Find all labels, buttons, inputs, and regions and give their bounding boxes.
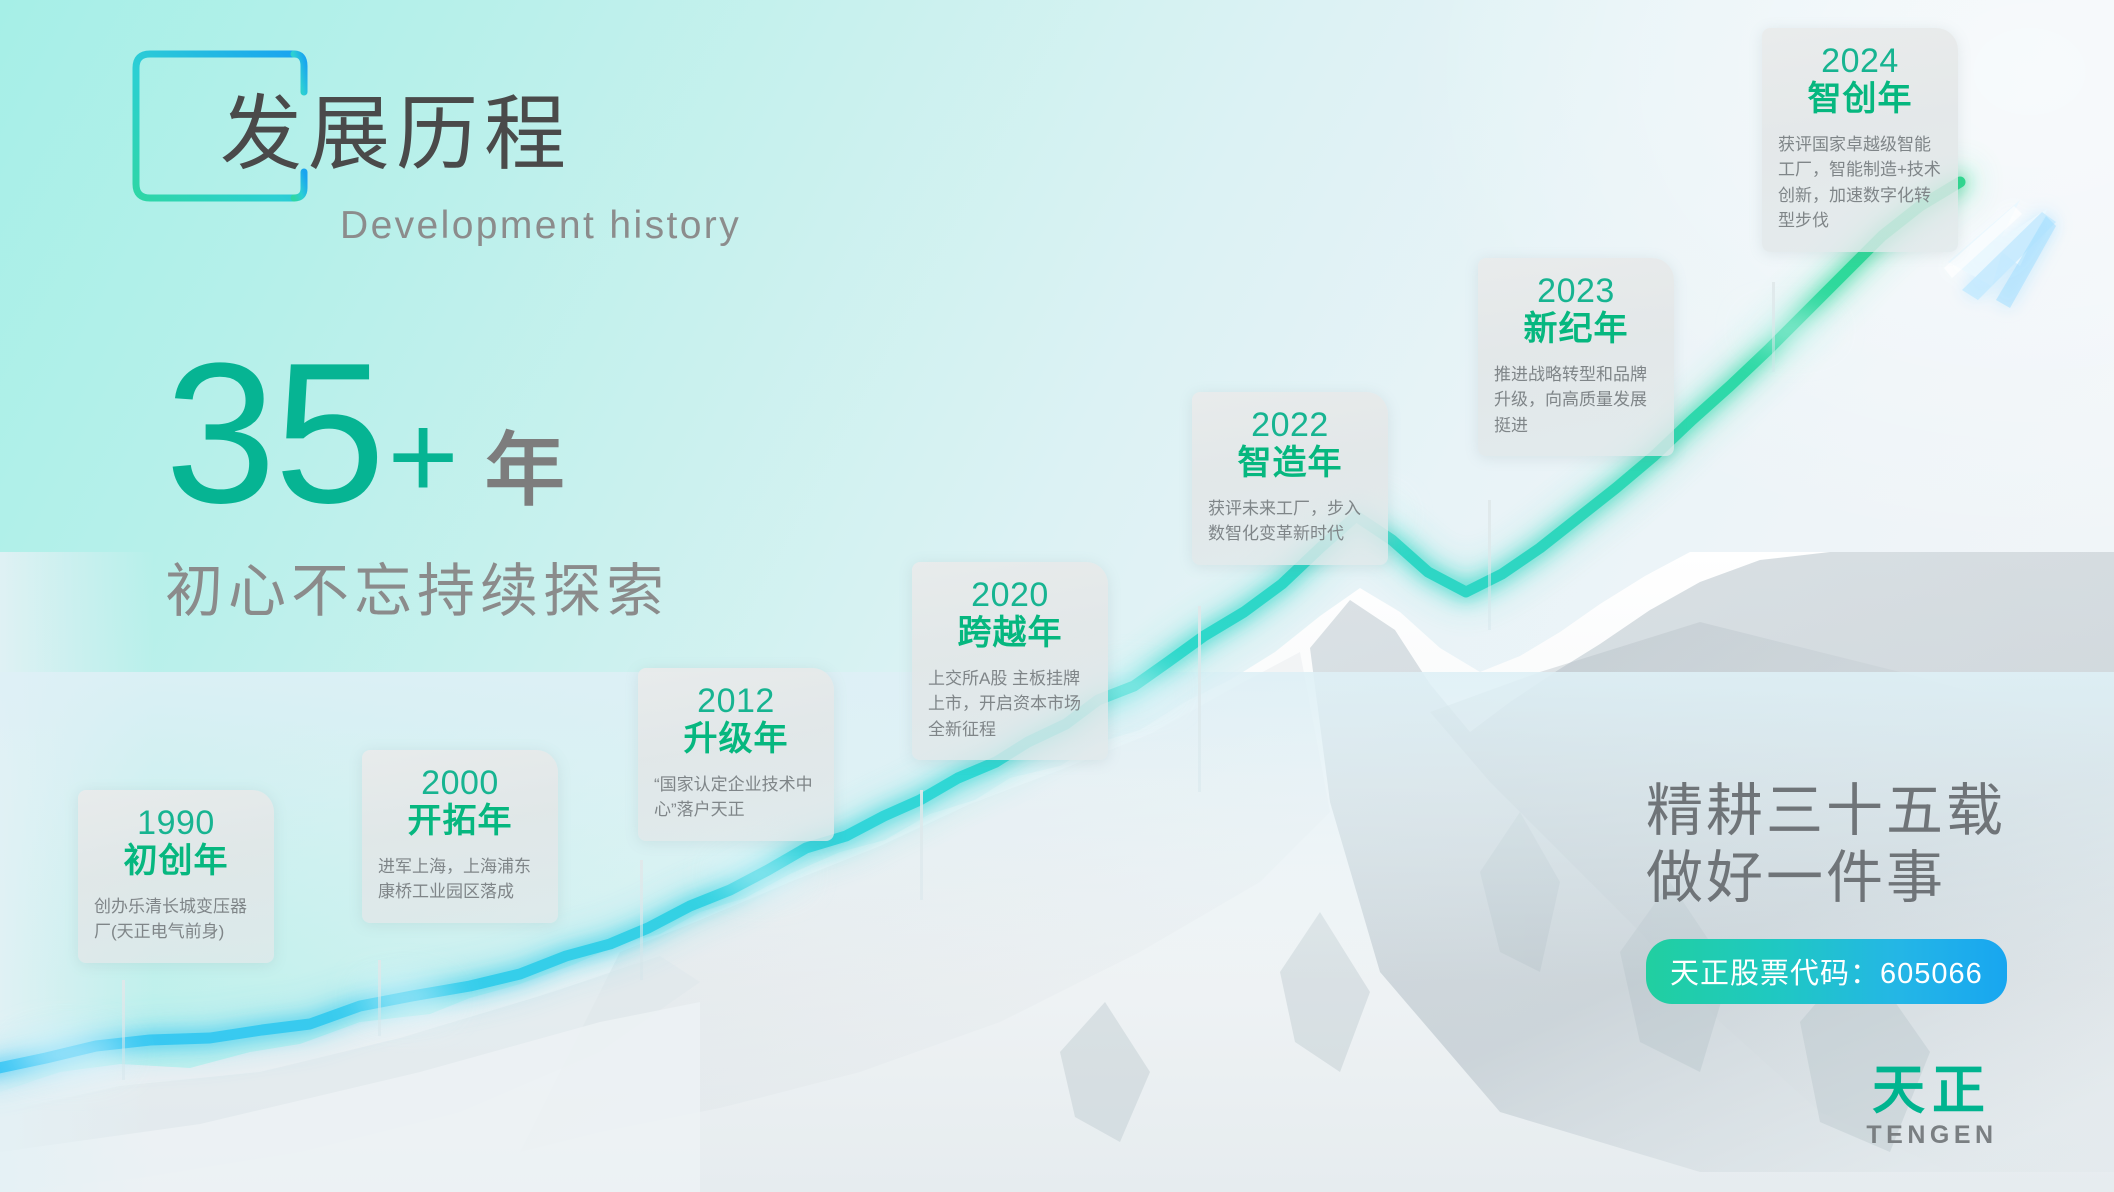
milestone-card-2000[interactable]: 2000 开拓年 进军上海，上海浦东康桥工业园区落成 [362, 750, 558, 923]
milestone-desc: 上交所A股 主板挂牌上市，开启资本市场全新征程 [924, 666, 1096, 743]
company-logo: 天正 TENGEN [1842, 1064, 2022, 1148]
milestone-desc: 获评国家卓越级智能工厂，智能制造+技术创新，加速数字化转型步伐 [1774, 132, 1946, 234]
slogan-line-1: 精耕三十五载 [1646, 778, 2026, 845]
milestone-desc: 获评未来工厂，步入数智化变革新时代 [1204, 496, 1376, 547]
milestone-desc: 推进战略转型和品牌升级，向高质量发展挺进 [1490, 362, 1662, 439]
milestone-stem-2022 [1198, 606, 1201, 792]
milestone-year: 2022 [1204, 406, 1376, 445]
milestone-stem-2024 [1772, 282, 1775, 372]
logo-chinese-name: 天正 [1842, 1064, 2022, 1117]
years-caption: 初心不忘持续探索 [165, 544, 725, 628]
milestone-tag: 新纪年 [1490, 309, 1662, 350]
years-plus-sign: + [387, 400, 458, 512]
milestone-tag: 升级年 [650, 719, 822, 760]
milestone-card-2022[interactable]: 2022 智造年 获评未来工厂，步入数智化变革新时代 [1192, 392, 1388, 565]
milestone-card-2024[interactable]: 2024 智创年 获评国家卓越级智能工厂，智能制造+技术创新，加速数字化转型步伐 [1762, 28, 1958, 252]
page-header: 发展历程 Development history [128, 36, 748, 226]
milestone-desc: 创办乐清长城变压器厂(天正电气前身) [90, 894, 262, 945]
milestone-tag: 开拓年 [374, 801, 546, 842]
milestone-card-2020[interactable]: 2020 跨越年 上交所A股 主板挂牌上市，开启资本市场全新征程 [912, 562, 1108, 760]
milestone-year: 2024 [1774, 42, 1946, 81]
upward-arrow-icon [1944, 200, 2056, 308]
milestone-year: 2020 [924, 576, 1096, 615]
years-number: 35 [165, 342, 383, 526]
milestone-tag: 智创年 [1774, 79, 1946, 120]
milestone-stem-1990 [122, 980, 125, 1080]
milestone-tag: 智造年 [1204, 443, 1376, 484]
milestone-stem-2023 [1488, 500, 1491, 630]
page-subtitle: Development history [340, 206, 741, 245]
infographic-canvas: 发展历程 Development history 35 + 年 初心不忘持续探索… [0, 0, 2114, 1192]
milestone-card-2012[interactable]: 2012 升级年 “国家认定企业技术中心”落户天正 [638, 668, 834, 841]
milestone-stem-2012 [640, 860, 643, 980]
stock-code-badge: 天正股票代码：605066 [1646, 939, 2007, 1004]
milestone-tag: 跨越年 [924, 613, 1096, 654]
slogan-line-2: 做好一件事 [1646, 845, 2026, 912]
milestone-desc: 进军上海，上海浦东康桥工业园区落成 [374, 854, 546, 905]
years-stat-row: 35 + 年 [165, 342, 725, 526]
milestone-stem-2020 [920, 790, 923, 900]
years-unit: 年 [485, 434, 565, 508]
logo-english-name: TENGEN [1842, 1123, 2022, 1148]
page-title: 发展历程 [220, 94, 572, 176]
milestone-year: 2012 [650, 682, 822, 721]
milestone-stem-2000 [378, 960, 381, 1036]
milestone-year: 2023 [1490, 272, 1662, 311]
milestone-card-1990[interactable]: 1990 初创年 创办乐清长城变压器厂(天正电气前身) [78, 790, 274, 963]
milestone-year: 2000 [374, 764, 546, 803]
milestone-card-2023[interactable]: 2023 新纪年 推进战略转型和品牌升级，向高质量发展挺进 [1478, 258, 1674, 456]
years-stat: 35 + 年 初心不忘持续探索 [165, 342, 725, 628]
milestone-desc: “国家认定企业技术中心”落户天正 [650, 772, 822, 823]
milestone-tag: 初创年 [90, 841, 262, 882]
milestone-year: 1990 [90, 804, 262, 843]
brand-slogan: 精耕三十五载 做好一件事 天正股票代码：605066 [1646, 778, 2026, 1004]
